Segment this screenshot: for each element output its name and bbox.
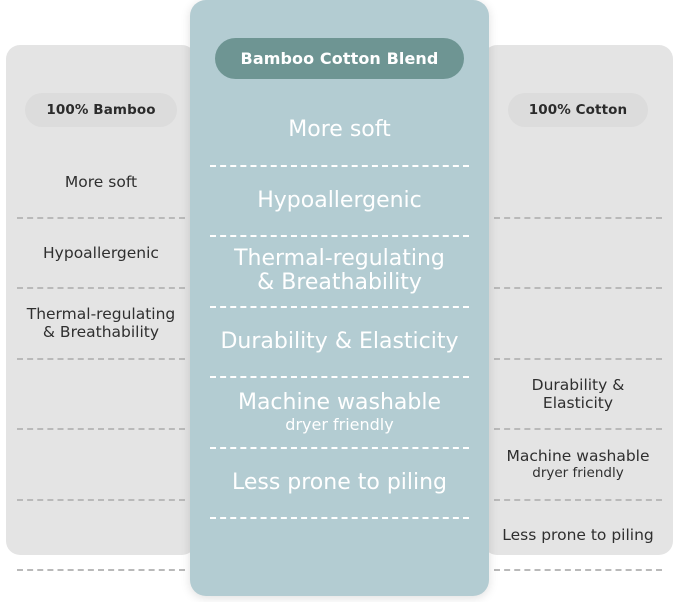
feature-row: Thermal-regulating& Breathability bbox=[210, 237, 469, 308]
feature-label: Less prone to piling bbox=[502, 526, 654, 544]
feature-row: More soft bbox=[17, 148, 185, 219]
feature-row: Durability &Elasticity bbox=[494, 360, 662, 431]
feature-row bbox=[494, 289, 662, 360]
column-cotton-header: 100% Cotton bbox=[483, 93, 673, 127]
feature-row bbox=[17, 501, 185, 572]
column-cotton-badge: 100% Cotton bbox=[508, 93, 648, 127]
column-blend-featured: Bamboo Cotton Blend More soft Hypoallerg… bbox=[190, 0, 489, 596]
column-bamboo: 100% Bamboo More soft Hypoallergenic The… bbox=[6, 45, 196, 555]
feature-label: Machine washable bbox=[506, 447, 649, 465]
feature-label: Hypoallergenic bbox=[257, 189, 422, 213]
feature-row bbox=[17, 430, 185, 501]
feature-label: Hypoallergenic bbox=[43, 244, 159, 262]
column-bamboo-header: 100% Bamboo bbox=[6, 93, 196, 127]
feature-row: Less prone to piling bbox=[494, 501, 662, 572]
feature-label: More soft bbox=[65, 173, 137, 191]
column-bamboo-badge: 100% Bamboo bbox=[25, 93, 176, 127]
feature-label: Less prone to piling bbox=[232, 471, 447, 495]
feature-row: Hypoallergenic bbox=[210, 167, 469, 238]
feature-row bbox=[494, 219, 662, 290]
feature-sublabel: dryer friendly bbox=[532, 465, 623, 481]
column-bamboo-rows: More soft Hypoallergenic Thermal-regulat… bbox=[6, 148, 196, 571]
column-blend-badge: Bamboo Cotton Blend bbox=[215, 38, 465, 79]
feature-label: More soft bbox=[288, 118, 390, 142]
feature-row: More soft bbox=[210, 96, 469, 167]
feature-row bbox=[494, 148, 662, 219]
feature-label: Durability &Elasticity bbox=[532, 376, 625, 412]
column-cotton: 100% Cotton Durability &Elasticity Machi… bbox=[483, 45, 673, 555]
feature-label: Thermal-regulating& Breathability bbox=[234, 247, 445, 295]
feature-row: Machine washable dryer friendly bbox=[494, 430, 662, 501]
column-blend-rows: More soft Hypoallergenic Thermal-regulat… bbox=[190, 96, 489, 519]
column-blend-header: Bamboo Cotton Blend bbox=[190, 38, 489, 79]
feature-row: Less prone to piling bbox=[210, 449, 469, 520]
comparison-chart: 100% Bamboo More soft Hypoallergenic The… bbox=[0, 0, 679, 602]
feature-row: Thermal-regulating& Breathability bbox=[17, 289, 185, 360]
feature-row: Hypoallergenic bbox=[17, 219, 185, 290]
feature-sublabel: dryer friendly bbox=[285, 415, 393, 434]
feature-row: Machine washable dryer friendly bbox=[210, 378, 469, 449]
feature-row: Durability & Elasticity bbox=[210, 308, 469, 379]
feature-label: Thermal-regulating& Breathability bbox=[27, 305, 176, 341]
feature-label: Machine washable bbox=[238, 391, 441, 415]
feature-row bbox=[17, 360, 185, 431]
feature-label: Durability & Elasticity bbox=[220, 330, 458, 354]
column-cotton-rows: Durability &Elasticity Machine washable … bbox=[483, 148, 673, 571]
